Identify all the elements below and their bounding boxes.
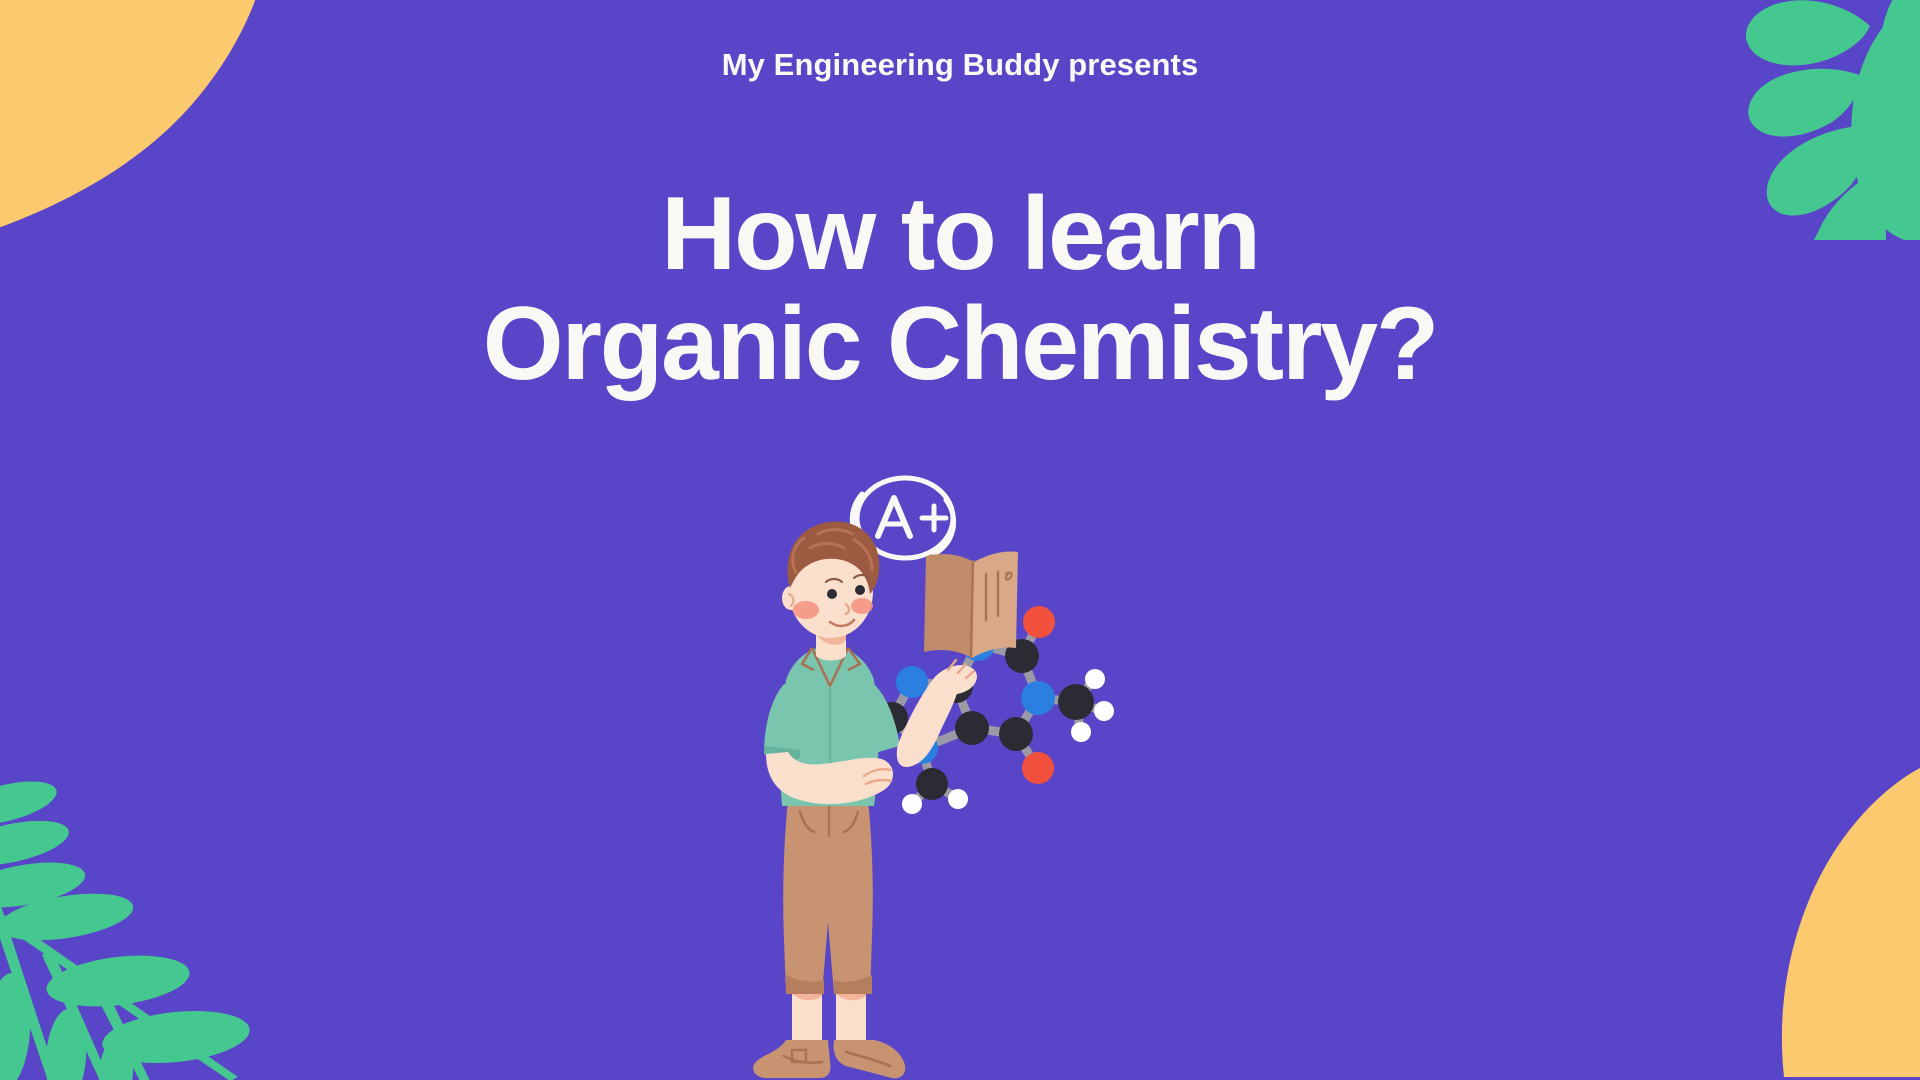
headline-line-2: Organic Chemistry? [0,289,1920,399]
yellow-blob-bottom-right-decoration [1632,767,1920,1080]
presentation-slide: My Engineering Buddy presents How to lea… [0,0,1920,1080]
student-character [753,522,1018,1079]
student-chemistry-illustration [750,470,1170,1080]
headline-line-1: How to learn [0,179,1920,289]
slide-text-block: My Engineering Buddy presents How to lea… [0,0,1920,400]
fern-frond-bottom-left-decoration [0,781,300,1080]
page-title: How to learn Organic Chemistry? [0,179,1920,399]
open-book [924,551,1018,658]
presenter-line: My Engineering Buddy presents [0,46,1920,83]
